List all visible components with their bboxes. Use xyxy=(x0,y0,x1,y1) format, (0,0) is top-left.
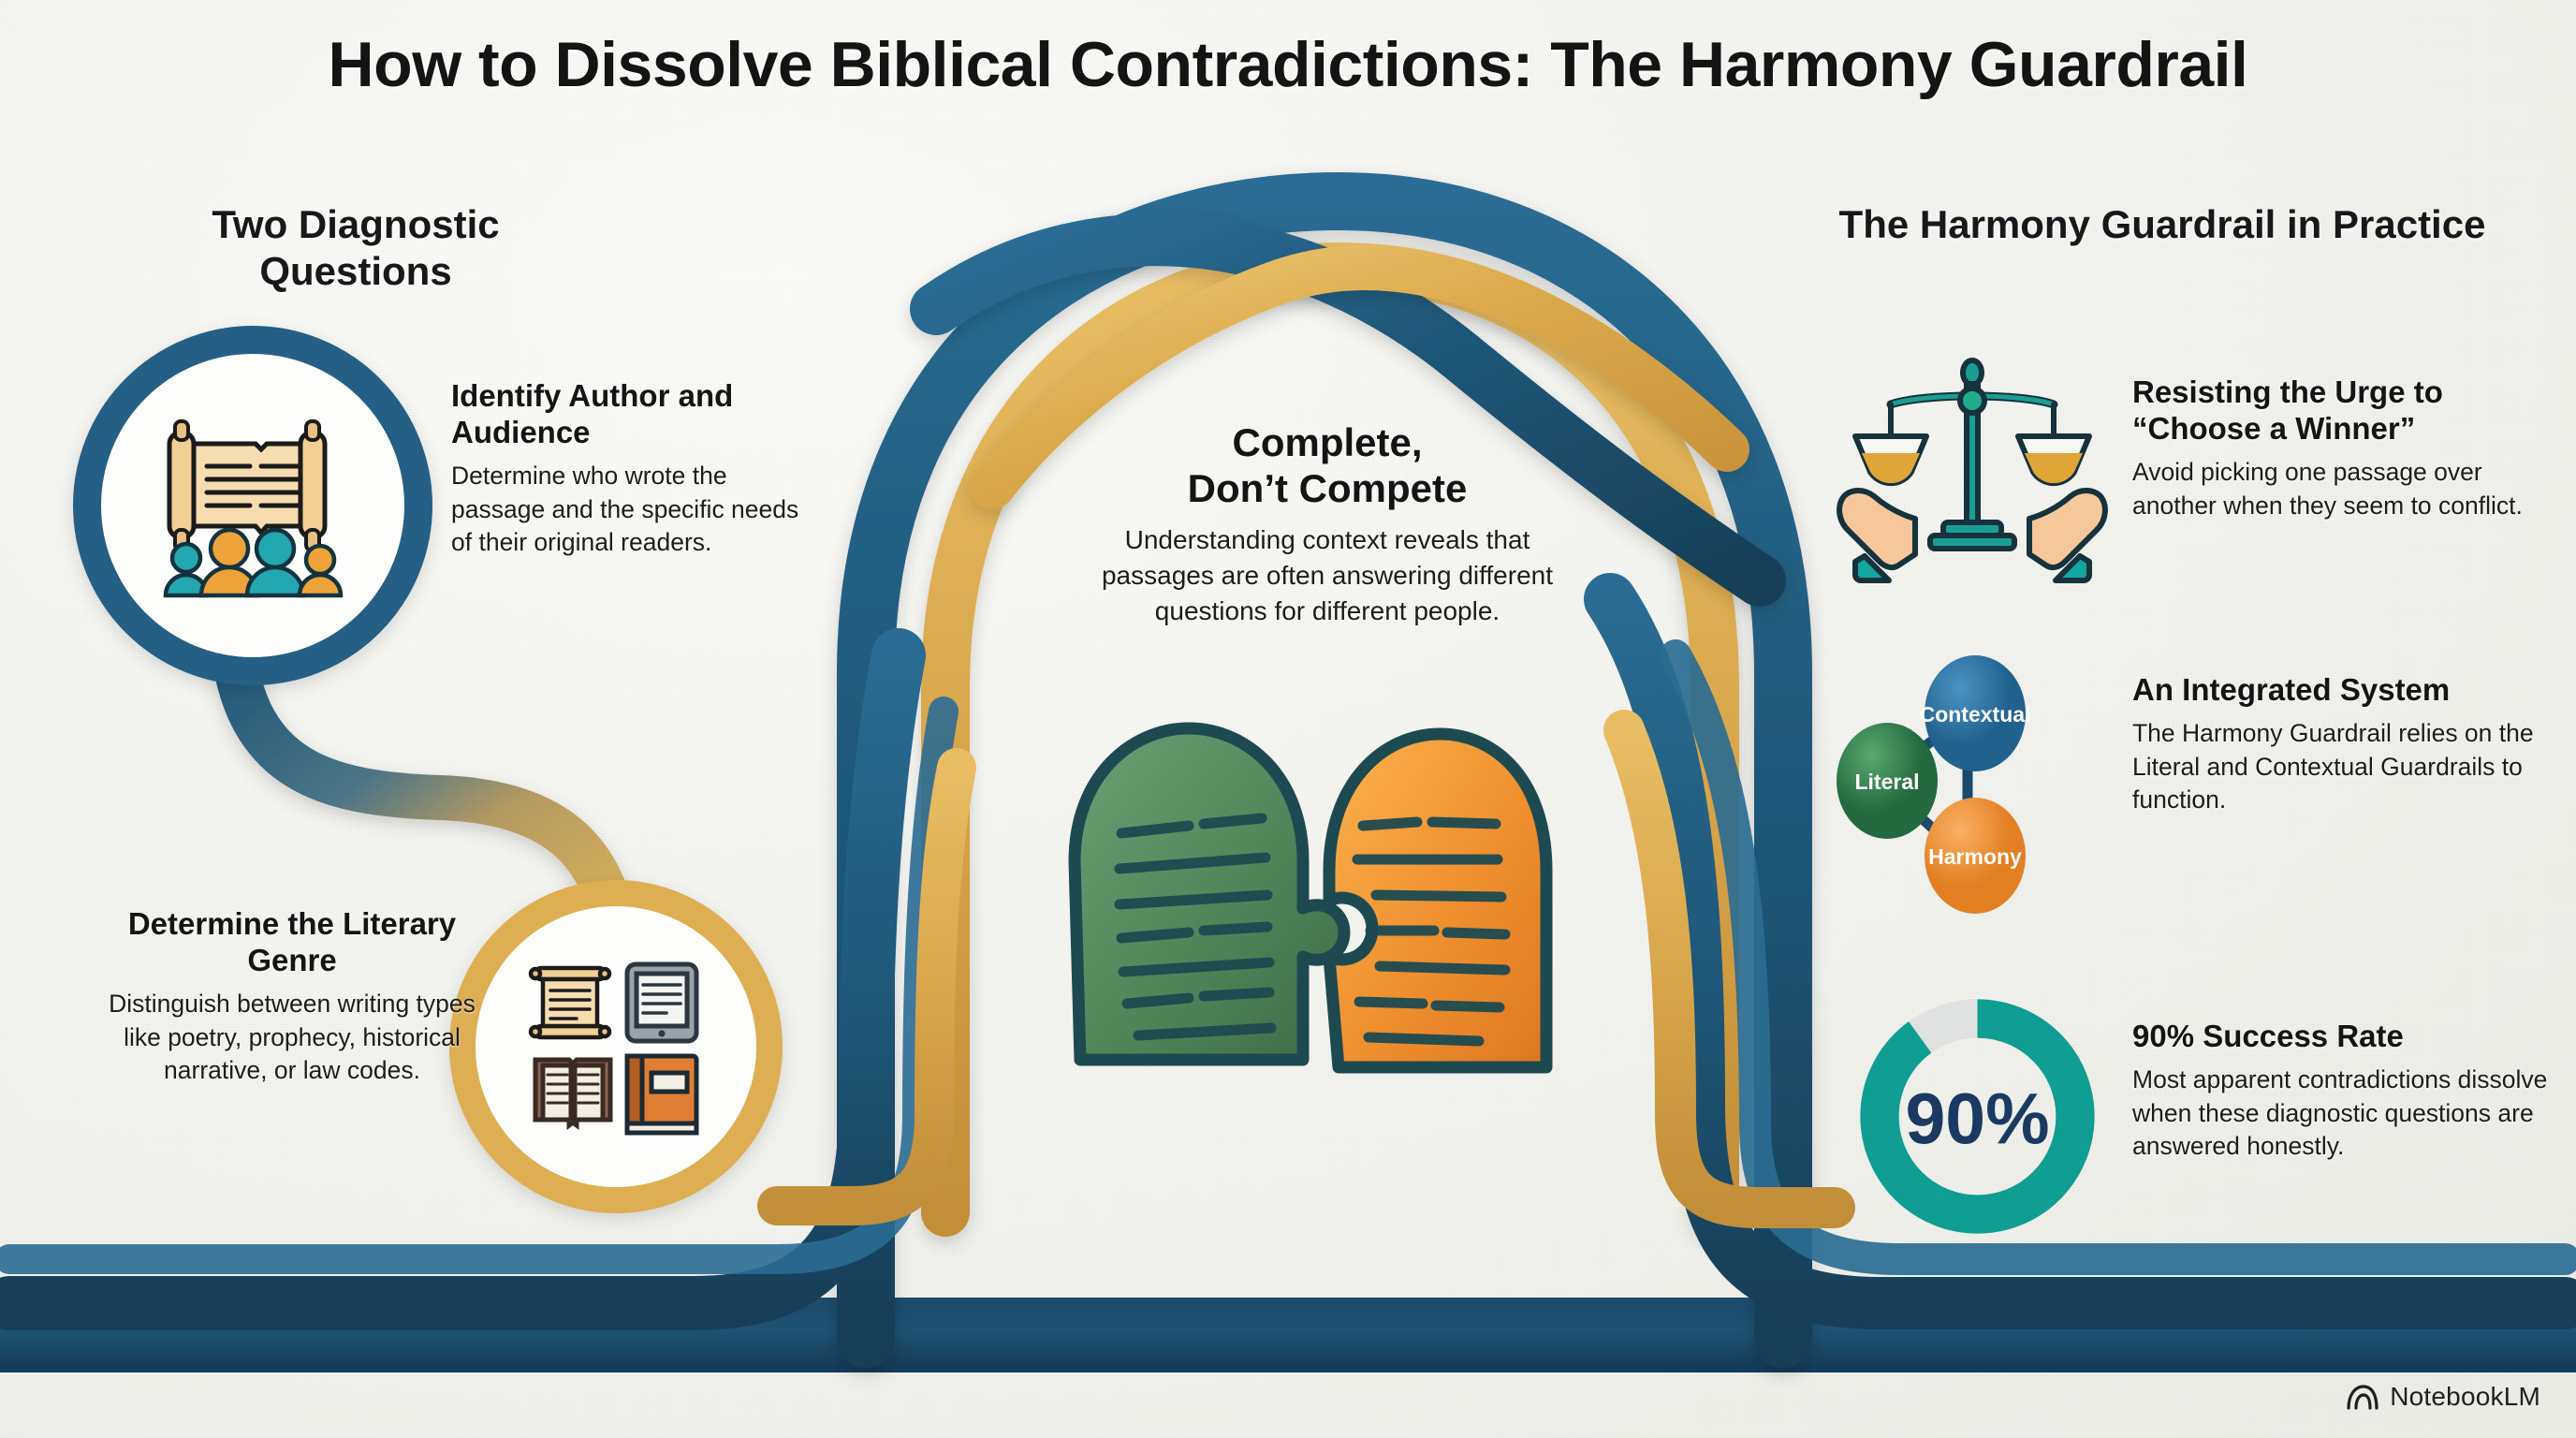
infographic-canvas: How to Dissolve Biblical Contradictions:… xyxy=(0,0,2576,1438)
scroll-and-audience-icon xyxy=(153,412,354,599)
notebooklm-logo-icon xyxy=(2347,1384,2378,1410)
left-column-heading: Two Diagnostic Questions xyxy=(122,201,590,294)
block-success-rate: 90% Success Rate Most apparent contradic… xyxy=(2132,1019,2554,1164)
right-column-heading: The Harmony Guardrail in Practice xyxy=(1835,201,2490,248)
node-literal-label: Literal xyxy=(1854,770,1919,794)
donut-progress-icon: 90% xyxy=(1849,988,2106,1245)
literary-genres-icon xyxy=(524,955,708,1138)
block-success-rate-title: 90% Success Rate xyxy=(2132,1019,2554,1055)
node-harmony-label: Harmony xyxy=(1928,844,2022,869)
block-choose-a-winner: Resisting the Urge to “Choose a Winner” … xyxy=(2132,374,2535,522)
block-center-title-line1: Complete, xyxy=(1232,420,1422,464)
block-literary-genre-title: Determine the Literary Genre xyxy=(95,906,489,979)
circle-literary-genre xyxy=(449,880,783,1213)
block-center-title-line2: Don’t Compete xyxy=(1188,466,1468,510)
block-integrated-system: An Integrated System The Harmony Guardra… xyxy=(2132,672,2554,817)
block-center-body: Understanding context reveals that passa… xyxy=(1065,522,1589,628)
block-integrated-system-title: An Integrated System xyxy=(2132,672,2554,709)
block-identify-author-body: Determine who wrote the passage and the … xyxy=(451,460,816,560)
block-literary-genre-body: Distinguish between writing types like p… xyxy=(95,988,489,1088)
block-complete-dont-compete: Complete, Don’t Compete Understanding co… xyxy=(1065,419,1589,629)
circle-identify-author xyxy=(73,326,432,685)
block-integrated-system-body: The Harmony Guardrail relies on the Lite… xyxy=(2132,717,2554,817)
donut-center-label: 90% xyxy=(1905,1078,2049,1159)
page-title: How to Dissolve Biblical Contradictions:… xyxy=(0,28,2576,101)
balance-scales-in-hands-icon xyxy=(1837,356,2108,590)
connected-nodes-icon: Literal Contextual Harmony xyxy=(1835,655,2115,917)
node-contextual-label: Contextual xyxy=(1920,702,2031,726)
interlocking-tablets-icon xyxy=(1058,712,1563,1086)
notebooklm-watermark: NotebookLM xyxy=(2347,1382,2540,1412)
block-choose-a-winner-body: Avoid picking one passage over another w… xyxy=(2132,456,2535,523)
block-identify-author-title: Identify Author and Audience xyxy=(451,378,816,451)
block-identify-author: Identify Author and Audience Determine w… xyxy=(451,378,816,560)
block-choose-a-winner-title: Resisting the Urge to “Choose a Winner” xyxy=(2132,374,2535,448)
block-success-rate-body: Most apparent contradictions dissolve wh… xyxy=(2132,1064,2554,1164)
watermark-label: NotebookLM xyxy=(2390,1382,2540,1412)
block-center-title: Complete, Don’t Compete xyxy=(1065,419,1589,511)
block-literary-genre: Determine the Literary Genre Distinguish… xyxy=(95,906,489,1088)
